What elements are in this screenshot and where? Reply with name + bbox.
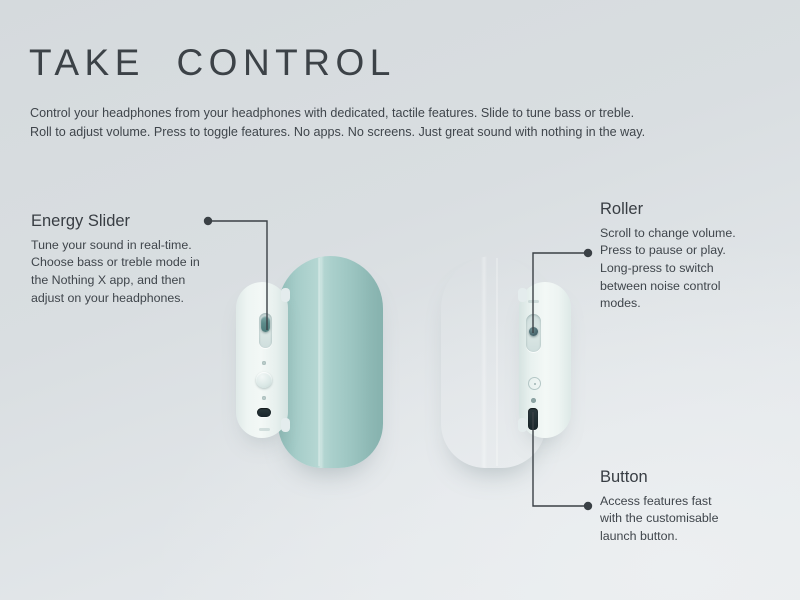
subtitle-line-1: Control your headphones from your headph… [30,104,775,123]
left-earpad [278,256,383,468]
annotation-line: between noise control [600,278,795,296]
usb-c-port [528,408,538,430]
roller-cap[interactable] [529,327,538,336]
annotation-line: Long-press to switch [600,260,795,278]
annotation-button: Button Access features fast with the cus… [600,468,795,546]
annotation-line: modes. [600,295,795,313]
right-pad-seam [496,258,498,466]
annotation-line: Tune your sound in real-time. [31,237,261,255]
annotation-line: with the customisable [600,510,795,528]
subtitle-line-2: Roll to adjust volume. Press to toggle f… [30,123,775,142]
left-indicator-dot-upper [262,361,266,365]
left-vent [259,428,270,431]
right-notch [518,288,527,302]
annotation-roller-title: Roller [600,200,795,220]
annotation-line: the Nothing X app, and then [31,272,261,290]
right-housing [519,282,571,438]
left-notch-lower [281,418,290,432]
annotation-button-title: Button [600,468,795,488]
right-notch-lower [518,418,527,432]
right-indicator-dot [531,398,536,403]
annotation-line: Press to pause or play. [600,242,795,260]
product-feature-graphic: TAKE CONTROL Control your headphones fro… [0,0,800,600]
annotation-energy-slider-body: Tune your sound in real-time. Choose bas… [31,237,261,307]
power-indicator-icon [528,377,541,390]
annotation-energy-slider: Energy Slider Tune your sound in real-ti… [31,212,261,307]
annotation-line: Scroll to change volume. [600,225,795,243]
page-subtitle: Control your headphones from your headph… [30,104,775,142]
annotation-line: Access features fast [600,493,795,511]
annotation-button-body: Access features fast with the customisab… [600,493,795,546]
annotation-energy-slider-title: Energy Slider [31,212,261,232]
left-round-button[interactable] [256,372,272,388]
annotation-roller: Roller Scroll to change volume. Press to… [600,200,795,313]
annotation-line: Choose bass or treble mode in [31,254,261,272]
left-pad-seam [318,258,320,466]
left-indicator-dot-lower [262,396,266,400]
page-title: TAKE CONTROL [29,44,396,81]
left-microphone-port [257,408,271,417]
annotation-line: launch button. [600,528,795,546]
right-top-vent [528,300,539,303]
energy-slider-thumb[interactable] [261,316,270,332]
annotation-line: adjust on your headphones. [31,290,261,308]
annotation-roller-body: Scroll to change volume. Press to pause … [600,225,795,313]
left-notch [281,288,290,302]
